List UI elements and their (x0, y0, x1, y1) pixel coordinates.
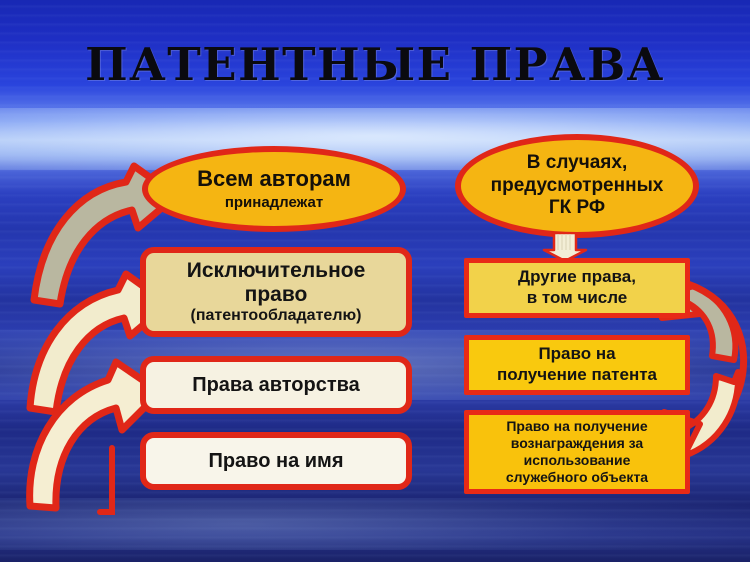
box-patent-obtain-right-line1: Право на (538, 344, 615, 365)
box-remuneration-right-line3: использование (524, 452, 631, 469)
box-exclusive-right[interactable]: Исключительное право (патентообладателю) (140, 247, 412, 337)
box-exclusive-right-line3: (патентообладателю) (191, 307, 362, 325)
ellipse-cases-line3: ГК РФ (549, 197, 605, 219)
box-name-right[interactable]: Право на имя (140, 432, 412, 490)
slide-canvas: ПАТЕНТНЫЕ ПРАВА Всем авторам принадлежат… (0, 0, 750, 562)
box-remuneration-right[interactable]: Право на получение вознаграждения за исп… (464, 410, 690, 494)
box-remuneration-right-line2: вознаграждения за (511, 435, 643, 452)
ellipse-cases-provided-by-code[interactable]: В случаях, предусмотренных ГК РФ (455, 134, 699, 238)
box-authorship-rights-label: Права авторства (192, 374, 360, 397)
page-title: ПАТЕНТНЫЕ ПРАВА (0, 38, 750, 91)
box-patent-obtain-right-line2: получение патента (497, 365, 657, 386)
ellipse-cases-line1: В случаях, (527, 152, 627, 174)
box-remuneration-right-line4: служебного объекта (506, 469, 648, 486)
box-remuneration-right-line1: Право на получение (506, 418, 647, 435)
box-exclusive-right-line1: Исключительное (187, 259, 366, 282)
box-patent-obtain-right[interactable]: Право на получение патента (464, 335, 690, 395)
lower-haze (0, 498, 750, 550)
box-other-rights-line2: в том числе (527, 288, 628, 309)
ellipse-cases-line2: предусмотренных (491, 175, 664, 197)
box-name-right-label: Право на имя (208, 450, 343, 473)
ellipse-all-authors[interactable]: Всем авторам принадлежат (142, 146, 406, 232)
box-exclusive-right-line2: право (245, 283, 308, 306)
ellipse-all-authors-line1: Всем авторам (197, 167, 351, 190)
box-other-rights-line1: Другие права, (518, 267, 636, 288)
box-authorship-rights[interactable]: Права авторства (140, 356, 412, 414)
box-other-rights[interactable]: Другие права, в том числе (464, 258, 690, 318)
ellipse-all-authors-line2: принадлежат (225, 194, 323, 211)
